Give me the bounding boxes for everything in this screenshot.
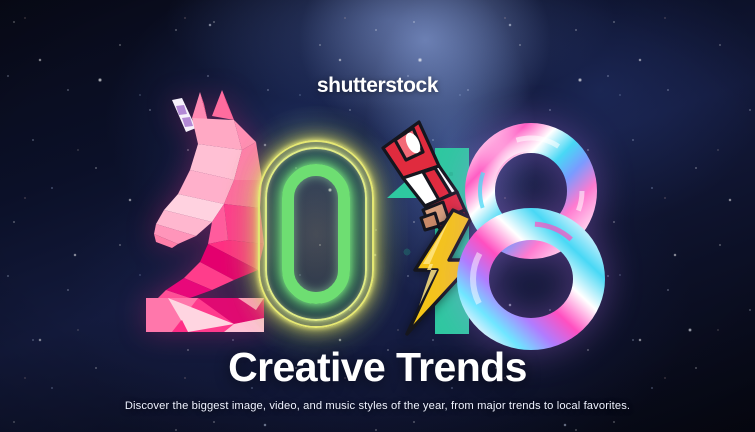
page-subtitle-text: Discover the biggest image, video, and m… [125,400,630,412]
neon-ring-icon [258,140,374,328]
shutterstock-logo-text: shutterstock [317,74,438,97]
numeral-0-neon [258,140,374,328]
page-subtitle: Discover the biggest image, video, and m… [0,396,755,414]
page-title: Creative Trends [0,344,755,391]
numeral-2-unicorn [138,84,266,332]
neon-inner-ring [282,164,350,304]
page-title-text: Creative Trends [228,344,527,390]
shutterstock-logo: shutterstock [0,74,755,98]
iridescent-loop-icon [468,136,594,336]
numeral-8-iridescent [468,136,594,336]
creative-trends-hero: shutterstock [0,0,755,432]
unicorn-icon [138,84,266,332]
